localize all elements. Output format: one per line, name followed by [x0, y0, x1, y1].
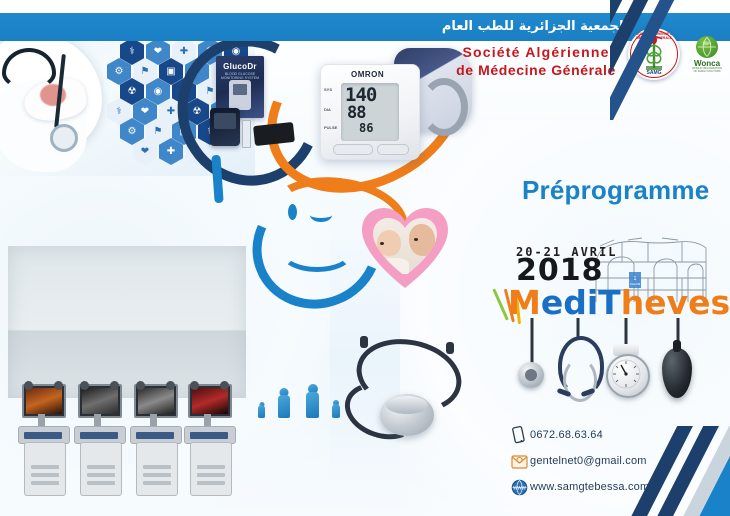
hanging-sphygmomanometer	[596, 318, 656, 438]
bp-sys-label: SYS	[324, 87, 332, 92]
bp-pulse-label: PULSE	[324, 125, 337, 130]
stethoscope-bell-icon	[50, 124, 78, 152]
carry-pouch	[253, 122, 295, 146]
bp-diastolic-value: 88	[347, 103, 365, 123]
brochure-cover: ⚕❤✚☢◉⚙⚑▣⚕❤✚☢◉⚙⚑▣⚕❤✚☢◉⚙⚑▣⚕❤✚☢ GlucoDr BLO…	[0, 0, 730, 516]
ultrasound-body	[80, 442, 122, 496]
ultrasound-body	[190, 442, 232, 496]
baby-face	[377, 230, 401, 256]
stethoscope-neck-icon	[2, 48, 56, 90]
ultrasound-body	[136, 442, 178, 496]
large-stethoscope	[338, 336, 510, 444]
logo-letter-m: M	[508, 283, 541, 322]
family-figure	[278, 388, 290, 418]
family-figure	[306, 384, 319, 418]
glucometer-brand: GlucoDr	[216, 62, 264, 71]
logo-letter-t: T	[598, 283, 621, 322]
test-strip	[242, 120, 251, 148]
bp-dia-label: DIA	[324, 107, 331, 112]
phone-icon	[508, 425, 530, 445]
bp-unit: OMRON 140 88 86 SYS DIA PULSE	[320, 64, 420, 160]
stethoscope-chestpiece	[518, 362, 544, 388]
ultrasound-body	[24, 442, 66, 496]
inflation-bulb	[662, 348, 692, 398]
phone-number: 0672.68.63.64	[530, 429, 603, 441]
event-date-block: 20-21 AVRIL 2018	[516, 245, 617, 286]
glucometer-device	[210, 108, 240, 146]
email-icon	[508, 451, 530, 471]
corner-stripes-bottom-right	[605, 426, 730, 516]
bp-memory-button[interactable]	[377, 144, 409, 155]
event-year: 2018	[516, 257, 617, 286]
ultrasound-machines-photo	[8, 246, 246, 398]
heart-frame-baby-parent	[362, 208, 448, 290]
steth-earpiece-right	[446, 342, 454, 354]
glucometer-box-device	[229, 80, 251, 110]
svg-text:WWW: WWW	[512, 485, 526, 491]
smiley-eye	[288, 204, 297, 220]
logo-text-hevest: hevest	[621, 283, 730, 322]
steth-earpiece-left	[360, 336, 368, 348]
glucometer-product: GlucoDr BLOOD GLUCOSE MONITORING SYSTEM	[210, 56, 276, 138]
hanging-inflation-bulb	[648, 318, 708, 438]
logo-text-edi: edi	[541, 283, 598, 322]
steth-chestpiece	[380, 394, 434, 436]
page-title: Préprogramme	[522, 175, 709, 206]
bp-lcd-display: 140 88 86	[341, 83, 399, 141]
french-title-line1: Société Algérienne	[438, 44, 634, 60]
corner-stripes-top-right	[610, 0, 730, 120]
family-figure	[258, 402, 265, 418]
sphygmomanometer-gauge	[606, 354, 650, 398]
french-title-line2: de Médecine Générale	[438, 62, 634, 78]
medithevest-logo: MediThevest	[508, 283, 730, 322]
bp-pulse-value: 86	[359, 121, 373, 135]
stripe	[610, 0, 692, 120]
bp-start-button[interactable]	[333, 144, 373, 155]
smiley-face	[272, 196, 358, 272]
smiley-wink	[310, 208, 332, 222]
bp-brand: OMRON	[351, 70, 384, 79]
glucometer-subtitle: BLOOD GLUCOSE MONITORING SYSTEM	[216, 72, 264, 80]
globe-icon: WWW	[508, 477, 530, 497]
arabic-association-title: الجمعية الجزائرية للطب العام	[440, 14, 630, 40]
smiley-mouth	[280, 232, 354, 272]
